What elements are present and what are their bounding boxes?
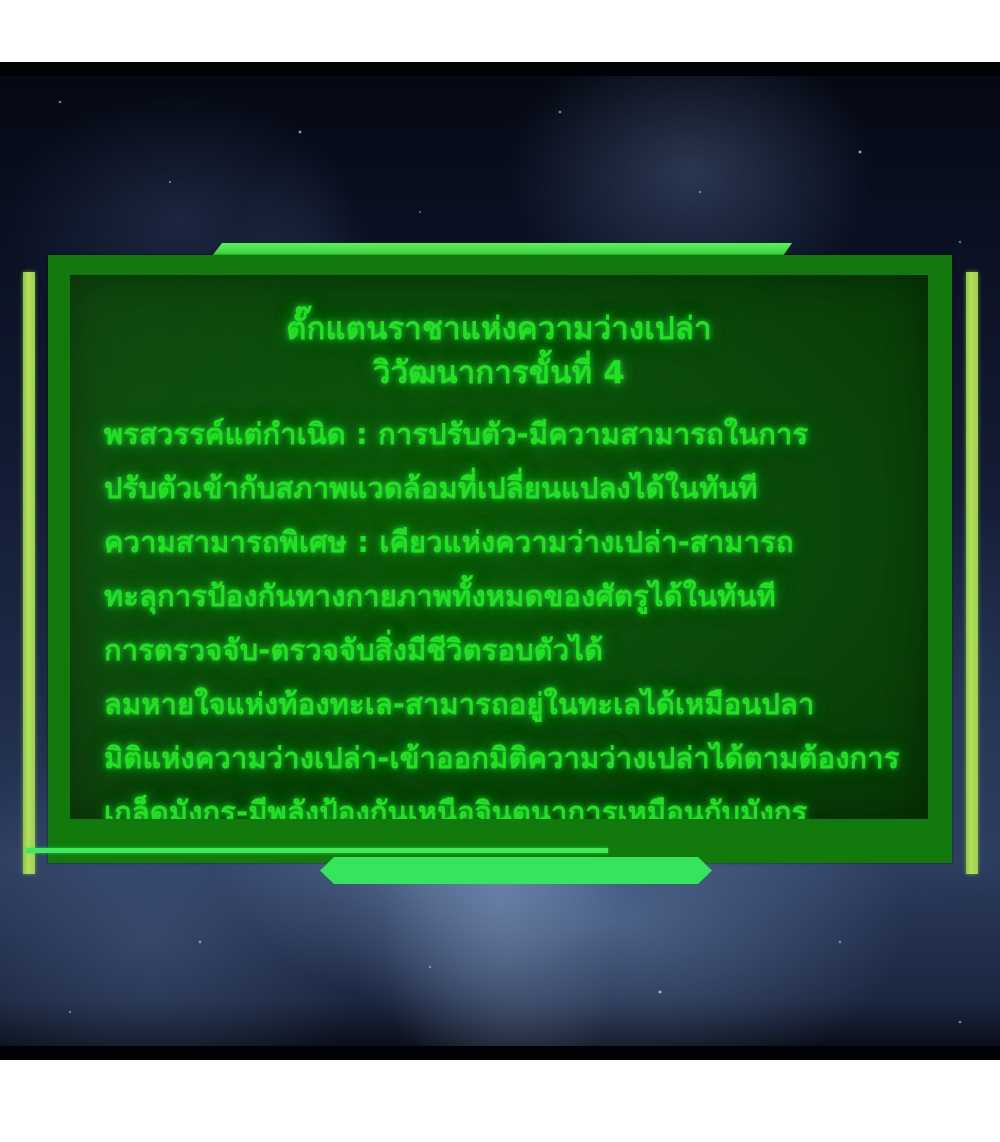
stat-line: มิติแห่งความว่างเปล่า-เข้าออกมิติความว่า… [104, 731, 918, 785]
stat-line: การตรวจจับ-ตรวจจับสิ่งมีชีวิตรอบตัวได้ [104, 623, 918, 677]
status-panel: ตั๊กแตนราชาแห่งความว่างเปล่า วิวัฒนาการข… [48, 255, 952, 863]
stat-line: เกล็ดมังกร-มีพลังป้องกันเหนือจินตนาการเห… [104, 785, 918, 819]
comic-panel-page: ตั๊กแตนราชาแห่งความว่างเปล่า วิวัฒนาการข… [0, 0, 1000, 1142]
right-accent-bar [966, 272, 978, 874]
bottom-tab-decoration [320, 857, 712, 884]
bottom-dark-band [0, 1046, 1000, 1060]
status-panel-inner: ตั๊กแตนราชาแห่งความว่างเปล่า วิวัฒนาการข… [70, 275, 928, 819]
stat-line: ทะลุการป้องกันทางกายภาพทั้งหมดของศัตรูได… [104, 569, 918, 623]
stat-line: ลมหายใจแห่งท้องทะเล-สามารถอยู่ในทะเลได้เ… [104, 677, 918, 731]
panel-underline-accent [26, 848, 608, 853]
stat-line-list: พรสวรรค์แต่กำเนิด : การปรับตัว-มีความสาม… [104, 407, 918, 819]
page-title: ตั๊กแตนราชาแห่งความว่างเปล่า [70, 307, 928, 351]
top-dark-band [0, 62, 1000, 76]
title-block: ตั๊กแตนราชาแห่งความว่างเปล่า วิวัฒนาการข… [70, 307, 928, 395]
stat-line: พรสวรรค์แต่กำเนิด : การปรับตัว-มีความสาม… [104, 407, 918, 461]
evolution-stage-subtitle: วิวัฒนาการขั้นที่ 4 [70, 351, 928, 395]
stat-line: ปรับตัวเข้ากับสภาพแวดล้อมที่เปลี่ยนแปลงไ… [104, 461, 918, 515]
stat-line: ความสามารถพิเศษ : เคียวแห่งความว่างเปล่า… [104, 515, 918, 569]
left-accent-bar [23, 272, 35, 874]
